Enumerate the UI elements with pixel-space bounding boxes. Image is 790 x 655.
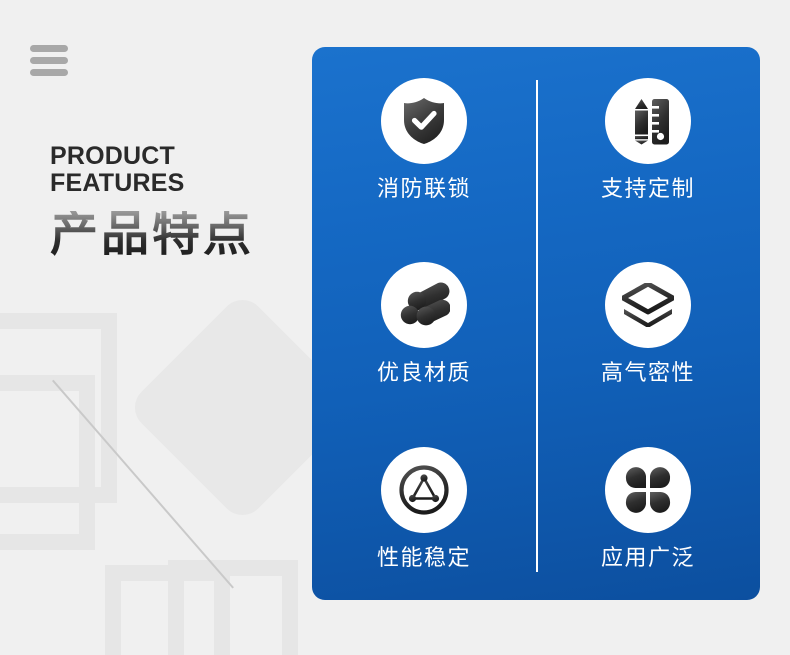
page-title: 产品特点 <box>50 211 310 259</box>
feature-item-quality-material[interactable]: 优良材质 <box>312 231 536 415</box>
feature-label: 优良材质 <box>377 362 471 384</box>
feature-label: 应用广泛 <box>601 547 695 569</box>
page-title-block: PRODUCT FEATURES 产品特点 <box>50 143 310 259</box>
feature-item-airtightness[interactable]: 高气密性 <box>536 231 760 415</box>
hamburger-bar <box>30 69 68 76</box>
feature-label: 高气密性 <box>601 362 695 384</box>
left-column: PRODUCT FEATURES 产品特点 <box>0 0 312 655</box>
layers-stack-icon <box>622 283 674 327</box>
molecule-circle-icon <box>399 465 449 515</box>
hamburger-menu-icon[interactable] <box>30 45 68 76</box>
features-panel: 消防联锁 <box>312 47 760 600</box>
four-petal-clover-icon <box>624 466 672 514</box>
feature-icon-circle <box>605 78 691 164</box>
feature-icon-circle <box>605 447 691 533</box>
feature-icon-circle <box>605 262 691 348</box>
shield-check-icon <box>401 97 447 145</box>
feature-label: 性能稳定 <box>377 547 471 569</box>
hamburger-bar <box>30 57 68 64</box>
feature-icon-circle <box>381 262 467 348</box>
stacked-pipes-icon <box>398 281 450 329</box>
feature-icon-circle <box>381 78 467 164</box>
pencil-ruler-icon <box>625 97 671 145</box>
eyebrow-title-line2: FEATURES <box>50 170 310 197</box>
feature-item-customization[interactable]: 支持定制 <box>536 47 760 231</box>
features-grid: 消防联锁 <box>312 47 760 600</box>
eyebrow-title-line1: PRODUCT <box>50 143 310 170</box>
feature-item-fire-interlock[interactable]: 消防联锁 <box>312 47 536 231</box>
feature-item-stable-performance[interactable]: 性能稳定 <box>312 416 536 600</box>
feature-icon-circle <box>381 447 467 533</box>
feature-label: 支持定制 <box>601 178 695 200</box>
eyebrow-title: PRODUCT FEATURES <box>50 143 310 197</box>
feature-item-wide-application[interactable]: 应用广泛 <box>536 416 760 600</box>
hamburger-bar <box>30 45 68 52</box>
feature-label: 消防联锁 <box>377 178 471 200</box>
